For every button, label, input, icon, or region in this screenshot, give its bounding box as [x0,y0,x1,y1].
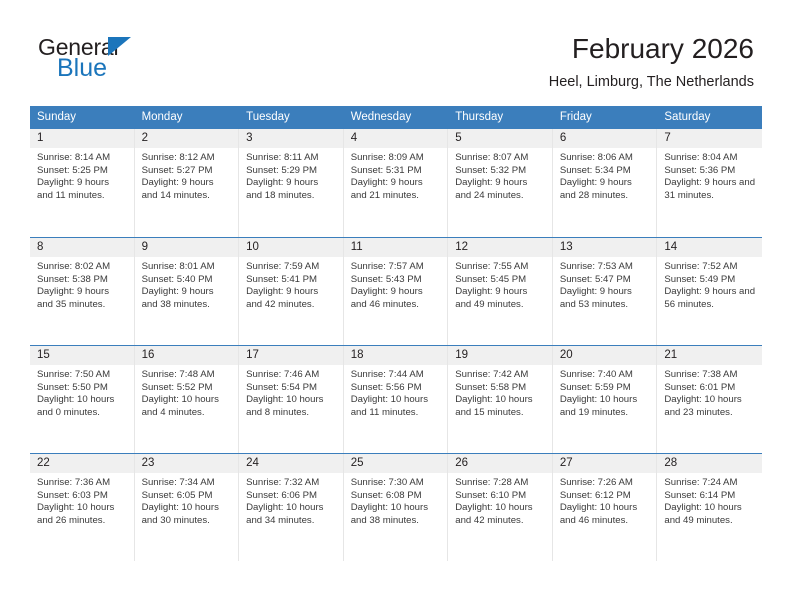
daylight-text: Daylight: 10 hours and 49 minutes. [664,502,756,527]
day-cell[interactable]: 20 Sunrise: 7:40 AM Sunset: 5:59 PM Dayl… [553,346,658,453]
day-cell[interactable]: 25 Sunrise: 7:30 AM Sunset: 6:08 PM Dayl… [344,454,449,561]
day-details: Sunrise: 8:11 AM Sunset: 5:29 PM Dayligh… [239,148,343,202]
daylight-text: Daylight: 10 hours and 23 minutes. [664,394,756,419]
week-row: 8 Sunrise: 8:02 AM Sunset: 5:38 PM Dayli… [30,237,762,345]
sunrise-text: Sunrise: 8:07 AM [455,152,546,165]
sunrise-text: Sunrise: 8:12 AM [142,152,233,165]
daylight-text: Daylight: 10 hours and 30 minutes. [142,502,233,527]
sunset-text: Sunset: 5:59 PM [560,382,651,395]
day-cell[interactable]: 27 Sunrise: 7:26 AM Sunset: 6:12 PM Dayl… [553,454,658,561]
daylight-text: Daylight: 9 hours and 21 minutes. [351,177,442,202]
week-row: 15 Sunrise: 7:50 AM Sunset: 5:50 PM Dayl… [30,345,762,453]
sunset-text: Sunset: 6:14 PM [664,490,756,503]
day-number: 9 [135,238,239,257]
daylight-text: Daylight: 9 hours and 28 minutes. [560,177,651,202]
day-number: 23 [135,454,239,473]
day-details: Sunrise: 8:02 AM Sunset: 5:38 PM Dayligh… [30,257,134,311]
day-details: Sunrise: 8:07 AM Sunset: 5:32 PM Dayligh… [448,148,552,202]
sunset-text: Sunset: 6:12 PM [560,490,651,503]
day-cell[interactable]: 24 Sunrise: 7:32 AM Sunset: 6:06 PM Dayl… [239,454,344,561]
sunset-text: Sunset: 5:49 PM [664,274,756,287]
day-details: Sunrise: 7:34 AM Sunset: 6:05 PM Dayligh… [135,473,239,527]
day-number: 21 [657,346,762,365]
day-details: Sunrise: 7:38 AM Sunset: 6:01 PM Dayligh… [657,365,762,419]
daylight-text: Daylight: 9 hours and 11 minutes. [37,177,128,202]
daylight-text: Daylight: 10 hours and 42 minutes. [455,502,546,527]
daylight-text: Daylight: 9 hours and 31 minutes. [664,177,756,202]
day-number: 19 [448,346,552,365]
day-number: 20 [553,346,657,365]
day-details: Sunrise: 7:24 AM Sunset: 6:14 PM Dayligh… [657,473,762,527]
day-details: Sunrise: 7:32 AM Sunset: 6:06 PM Dayligh… [239,473,343,527]
day-number: 17 [239,346,343,365]
day-cell[interactable]: 26 Sunrise: 7:28 AM Sunset: 6:10 PM Dayl… [448,454,553,561]
day-cell[interactable]: 23 Sunrise: 7:34 AM Sunset: 6:05 PM Dayl… [135,454,240,561]
sunset-text: Sunset: 5:56 PM [351,382,442,395]
week-row: 22 Sunrise: 7:36 AM Sunset: 6:03 PM Dayl… [30,453,762,561]
day-number: 1 [30,129,134,148]
daylight-text: Daylight: 9 hours and 18 minutes. [246,177,337,202]
day-cell[interactable]: 7 Sunrise: 8:04 AM Sunset: 5:36 PM Dayli… [657,129,762,237]
day-number: 25 [344,454,448,473]
weekday-header-sunday: Sunday [30,106,135,129]
day-details: Sunrise: 8:12 AM Sunset: 5:27 PM Dayligh… [135,148,239,202]
daylight-text: Daylight: 10 hours and 46 minutes. [560,502,651,527]
sunrise-text: Sunrise: 7:26 AM [560,477,651,490]
day-number: 2 [135,129,239,148]
daylight-text: Daylight: 9 hours and 49 minutes. [455,286,546,311]
day-number: 22 [30,454,134,473]
day-details: Sunrise: 8:09 AM Sunset: 5:31 PM Dayligh… [344,148,448,202]
day-number: 4 [344,129,448,148]
daylight-text: Daylight: 9 hours and 38 minutes. [142,286,233,311]
sunset-text: Sunset: 5:38 PM [37,274,128,287]
day-number: 26 [448,454,552,473]
day-details: Sunrise: 7:42 AM Sunset: 5:58 PM Dayligh… [448,365,552,419]
sunrise-text: Sunrise: 7:24 AM [664,477,756,490]
sunrise-text: Sunrise: 8:04 AM [664,152,756,165]
sunrise-text: Sunrise: 7:59 AM [246,261,337,274]
title-block: February 2026 Heel, Limburg, The Netherl… [549,32,754,92]
sunrise-text: Sunrise: 7:46 AM [246,369,337,382]
daylight-text: Daylight: 9 hours and 14 minutes. [142,177,233,202]
day-details: Sunrise: 7:36 AM Sunset: 6:03 PM Dayligh… [30,473,134,527]
day-number: 24 [239,454,343,473]
day-cell[interactable]: 2 Sunrise: 8:12 AM Sunset: 5:27 PM Dayli… [135,129,240,237]
day-cell[interactable]: 9 Sunrise: 8:01 AM Sunset: 5:40 PM Dayli… [135,238,240,345]
triangle-icon [108,37,131,56]
sunrise-text: Sunrise: 7:57 AM [351,261,442,274]
sunset-text: Sunset: 5:27 PM [142,165,233,178]
day-details: Sunrise: 8:14 AM Sunset: 5:25 PM Dayligh… [30,148,134,202]
day-number: 3 [239,129,343,148]
day-number: 28 [657,454,762,473]
sunrise-text: Sunrise: 7:38 AM [664,369,756,382]
day-details: Sunrise: 7:48 AM Sunset: 5:52 PM Dayligh… [135,365,239,419]
sunrise-text: Sunrise: 7:28 AM [455,477,546,490]
sunset-text: Sunset: 5:40 PM [142,274,233,287]
sunset-text: Sunset: 6:08 PM [351,490,442,503]
day-cell[interactable]: 11 Sunrise: 7:57 AM Sunset: 5:43 PM Dayl… [344,238,449,345]
sunset-text: Sunset: 5:31 PM [351,165,442,178]
daylight-text: Daylight: 10 hours and 19 minutes. [560,394,651,419]
weekday-header-row: Sunday Monday Tuesday Wednesday Thursday… [30,106,762,129]
day-details: Sunrise: 7:50 AM Sunset: 5:50 PM Dayligh… [30,365,134,419]
day-details: Sunrise: 7:53 AM Sunset: 5:47 PM Dayligh… [553,257,657,311]
sunset-text: Sunset: 5:32 PM [455,165,546,178]
day-details: Sunrise: 7:46 AM Sunset: 5:54 PM Dayligh… [239,365,343,419]
day-cell[interactable]: 14 Sunrise: 7:52 AM Sunset: 5:49 PM Dayl… [657,238,762,345]
weekday-header-saturday: Saturday [657,106,762,129]
day-details: Sunrise: 7:55 AM Sunset: 5:45 PM Dayligh… [448,257,552,311]
day-number: 16 [135,346,239,365]
sunset-text: Sunset: 5:36 PM [664,165,756,178]
sunset-text: Sunset: 5:43 PM [351,274,442,287]
daylight-text: Daylight: 10 hours and 0 minutes. [37,394,128,419]
sunrise-text: Sunrise: 8:11 AM [246,152,337,165]
day-cell[interactable]: 3 Sunrise: 8:11 AM Sunset: 5:29 PM Dayli… [239,129,344,237]
day-cell[interactable]: 19 Sunrise: 7:42 AM Sunset: 5:58 PM Dayl… [448,346,553,453]
day-details: Sunrise: 7:30 AM Sunset: 6:08 PM Dayligh… [344,473,448,527]
daylight-text: Daylight: 10 hours and 34 minutes. [246,502,337,527]
page-title: February 2026 [549,32,754,66]
sunrise-text: Sunrise: 8:09 AM [351,152,442,165]
day-cell[interactable]: 21 Sunrise: 7:38 AM Sunset: 6:01 PM Dayl… [657,346,762,453]
weekday-header-wednesday: Wednesday [344,106,449,129]
day-cell[interactable]: 12 Sunrise: 7:55 AM Sunset: 5:45 PM Dayl… [448,238,553,345]
day-cell[interactable]: 8 Sunrise: 8:02 AM Sunset: 5:38 PM Dayli… [30,238,135,345]
week-row: 1 Sunrise: 8:14 AM Sunset: 5:25 PM Dayli… [30,129,762,237]
day-cell[interactable]: 17 Sunrise: 7:46 AM Sunset: 5:54 PM Dayl… [239,346,344,453]
day-cell[interactable]: 10 Sunrise: 7:59 AM Sunset: 5:41 PM Dayl… [239,238,344,345]
day-cell[interactable]: 4 Sunrise: 8:09 AM Sunset: 5:31 PM Dayli… [344,129,449,237]
page-subtitle: Heel, Limburg, The Netherlands [549,72,754,92]
weekday-header-monday: Monday [135,106,240,129]
day-cell[interactable]: 5 Sunrise: 8:07 AM Sunset: 5:32 PM Dayli… [448,129,553,237]
day-number: 13 [553,238,657,257]
sunrise-text: Sunrise: 7:52 AM [664,261,756,274]
day-details: Sunrise: 7:59 AM Sunset: 5:41 PM Dayligh… [239,257,343,311]
sunset-text: Sunset: 5:34 PM [560,165,651,178]
weekday-header-tuesday: Tuesday [239,106,344,129]
sunrise-text: Sunrise: 7:40 AM [560,369,651,382]
day-cell[interactable]: 15 Sunrise: 7:50 AM Sunset: 5:50 PM Dayl… [30,346,135,453]
sunrise-text: Sunrise: 7:44 AM [351,369,442,382]
sunset-text: Sunset: 6:10 PM [455,490,546,503]
sunset-text: Sunset: 5:29 PM [246,165,337,178]
sunrise-text: Sunrise: 7:30 AM [351,477,442,490]
day-number: 10 [239,238,343,257]
weekday-header-thursday: Thursday [448,106,553,129]
sunrise-text: Sunrise: 8:02 AM [37,261,128,274]
daylight-text: Daylight: 10 hours and 4 minutes. [142,394,233,419]
day-cell[interactable]: 6 Sunrise: 8:06 AM Sunset: 5:34 PM Dayli… [553,129,658,237]
calendar-grid: Sunday Monday Tuesday Wednesday Thursday… [30,106,762,561]
sunrise-text: Sunrise: 7:34 AM [142,477,233,490]
sunset-text: Sunset: 5:47 PM [560,274,651,287]
sunrise-text: Sunrise: 7:53 AM [560,261,651,274]
day-cell[interactable]: 1 Sunrise: 8:14 AM Sunset: 5:25 PM Dayli… [30,129,135,237]
sunrise-text: Sunrise: 8:14 AM [37,152,128,165]
day-number: 7 [657,129,762,148]
day-cell[interactable]: 18 Sunrise: 7:44 AM Sunset: 5:56 PM Dayl… [344,346,449,453]
sunrise-text: Sunrise: 7:48 AM [142,369,233,382]
sunrise-text: Sunrise: 8:01 AM [142,261,233,274]
day-details: Sunrise: 7:26 AM Sunset: 6:12 PM Dayligh… [553,473,657,527]
day-number: 11 [344,238,448,257]
sunset-text: Sunset: 5:25 PM [37,165,128,178]
day-number: 8 [30,238,134,257]
day-cell[interactable]: 13 Sunrise: 7:53 AM Sunset: 5:47 PM Dayl… [553,238,658,345]
sunset-text: Sunset: 6:06 PM [246,490,337,503]
sunset-text: Sunset: 6:01 PM [664,382,756,395]
daylight-text: Daylight: 9 hours and 46 minutes. [351,286,442,311]
sunrise-text: Sunrise: 7:55 AM [455,261,546,274]
sunset-text: Sunset: 5:41 PM [246,274,337,287]
sunrise-text: Sunrise: 7:50 AM [37,369,128,382]
day-number: 27 [553,454,657,473]
day-cell[interactable]: 28 Sunrise: 7:24 AM Sunset: 6:14 PM Dayl… [657,454,762,561]
masthead: General Blue February 2026 Heel, Limburg… [0,0,792,100]
day-details: Sunrise: 7:28 AM Sunset: 6:10 PM Dayligh… [448,473,552,527]
weekday-header-friday: Friday [553,106,658,129]
sunset-text: Sunset: 5:54 PM [246,382,337,395]
day-details: Sunrise: 7:40 AM Sunset: 5:59 PM Dayligh… [553,365,657,419]
sunset-text: Sunset: 5:58 PM [455,382,546,395]
daylight-text: Daylight: 9 hours and 42 minutes. [246,286,337,311]
day-details: Sunrise: 8:01 AM Sunset: 5:40 PM Dayligh… [135,257,239,311]
day-number: 5 [448,129,552,148]
brand-logo[interactable]: General Blue [38,36,238,88]
sunset-text: Sunset: 6:05 PM [142,490,233,503]
daylight-text: Daylight: 10 hours and 26 minutes. [37,502,128,527]
daylight-text: Daylight: 10 hours and 15 minutes. [455,394,546,419]
sunrise-text: Sunrise: 7:32 AM [246,477,337,490]
sunset-text: Sunset: 5:50 PM [37,382,128,395]
day-details: Sunrise: 7:52 AM Sunset: 5:49 PM Dayligh… [657,257,762,311]
day-details: Sunrise: 8:04 AM Sunset: 5:36 PM Dayligh… [657,148,762,202]
day-number: 18 [344,346,448,365]
calendar-page: General Blue February 2026 Heel, Limburg… [0,0,792,612]
day-number: 15 [30,346,134,365]
day-cell[interactable]: 22 Sunrise: 7:36 AM Sunset: 6:03 PM Dayl… [30,454,135,561]
sunrise-text: Sunrise: 8:06 AM [560,152,651,165]
day-details: Sunrise: 7:57 AM Sunset: 5:43 PM Dayligh… [344,257,448,311]
day-cell[interactable]: 16 Sunrise: 7:48 AM Sunset: 5:52 PM Dayl… [135,346,240,453]
daylight-text: Daylight: 9 hours and 53 minutes. [560,286,651,311]
daylight-text: Daylight: 9 hours and 24 minutes. [455,177,546,202]
daylight-text: Daylight: 9 hours and 56 minutes. [664,286,756,311]
day-number: 14 [657,238,762,257]
daylight-text: Daylight: 10 hours and 38 minutes. [351,502,442,527]
day-details: Sunrise: 7:44 AM Sunset: 5:56 PM Dayligh… [344,365,448,419]
daylight-text: Daylight: 10 hours and 8 minutes. [246,394,337,419]
daylight-text: Daylight: 10 hours and 11 minutes. [351,394,442,419]
day-details: Sunrise: 8:06 AM Sunset: 5:34 PM Dayligh… [553,148,657,202]
sunset-text: Sunset: 6:03 PM [37,490,128,503]
sunrise-text: Sunrise: 7:42 AM [455,369,546,382]
brand-name-bottom: Blue [57,56,107,81]
day-number: 6 [553,129,657,148]
day-number: 12 [448,238,552,257]
sunrise-text: Sunrise: 7:36 AM [37,477,128,490]
daylight-text: Daylight: 9 hours and 35 minutes. [37,286,128,311]
sunset-text: Sunset: 5:45 PM [455,274,546,287]
sunset-text: Sunset: 5:52 PM [142,382,233,395]
